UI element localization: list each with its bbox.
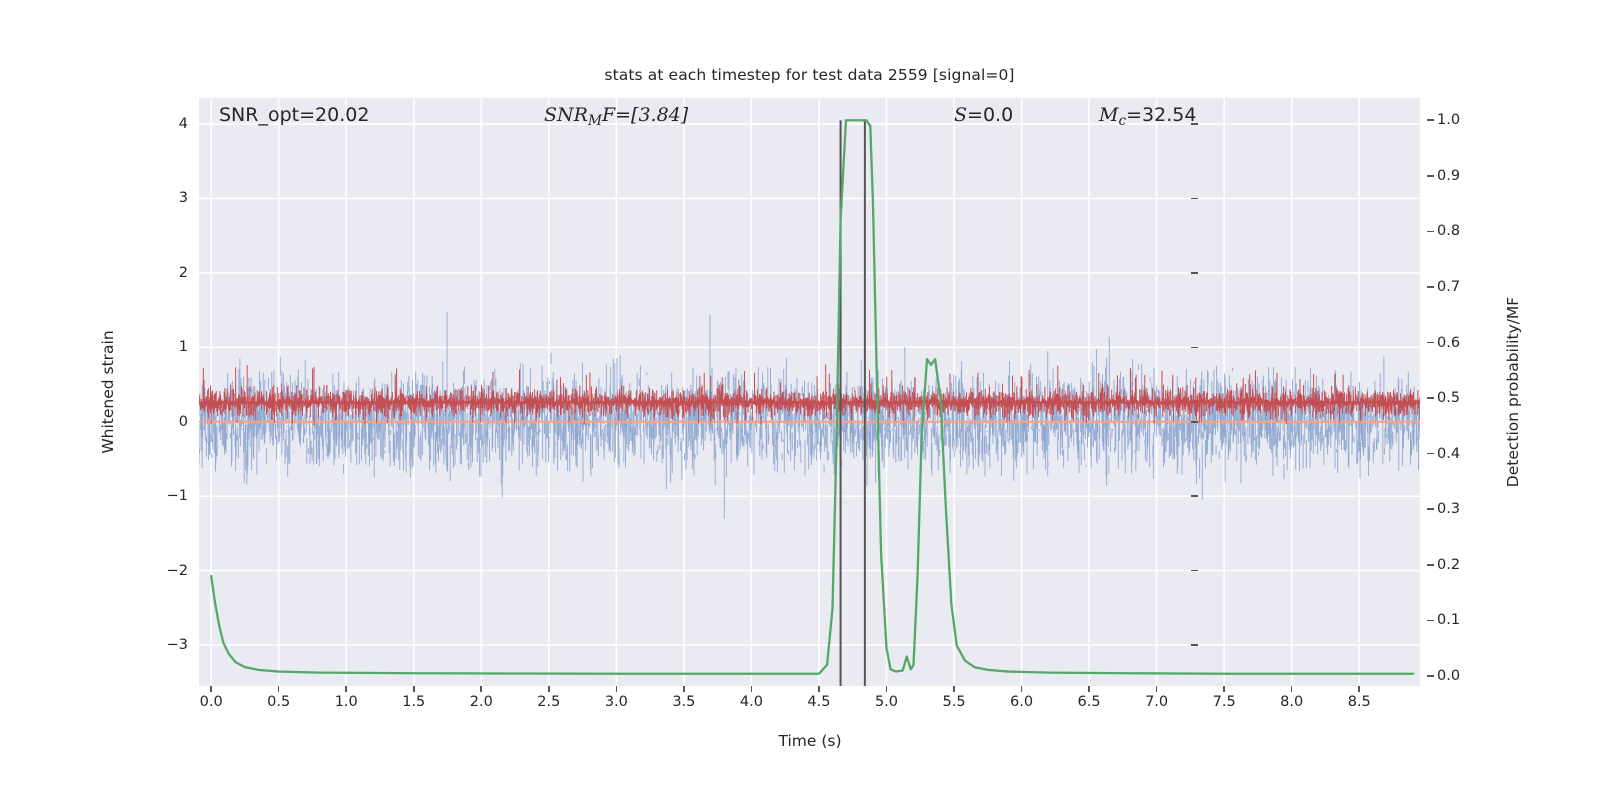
annotation-snr-opt: SNR_opt=20.02 bbox=[219, 104, 369, 126]
y-axis-label-right: Detection probability/MF bbox=[1504, 297, 1522, 487]
y-tick-label-left: 4 bbox=[179, 116, 188, 132]
x-tick-label: 8.5 bbox=[1348, 694, 1371, 710]
x-tick-label: 4.0 bbox=[740, 694, 763, 710]
y-axis-label-left: Whitened strain bbox=[99, 330, 117, 453]
y-tick-mark-right bbox=[1427, 231, 1434, 233]
y-tick-label-right: 1.0 bbox=[1437, 112, 1460, 128]
x-tick-label: 0.5 bbox=[267, 694, 290, 710]
y-tick-label-left: −2 bbox=[167, 563, 188, 579]
x-tick-label: 4.5 bbox=[807, 694, 830, 710]
annotation-s-value: =0.0 bbox=[967, 104, 1013, 126]
annotation-snr-mf-suffix: F=[3.84] bbox=[602, 104, 688, 126]
x-tick-mark bbox=[345, 686, 347, 692]
x-tick-label: 8.0 bbox=[1280, 694, 1303, 710]
x-tick-label: 5.5 bbox=[942, 694, 965, 710]
annotation-mc-subscript: c bbox=[1118, 113, 1126, 129]
y-tick-label-right: 0.9 bbox=[1437, 168, 1460, 184]
x-tick-mark bbox=[886, 686, 888, 692]
annotation-mc-value: =32.54 bbox=[1126, 104, 1196, 126]
x-tick-label: 1.5 bbox=[402, 694, 425, 710]
x-axis-label: Time (s) bbox=[778, 732, 841, 750]
x-tick-mark bbox=[751, 686, 753, 692]
x-tick-label: 2.5 bbox=[537, 694, 560, 710]
plot-area: SNR_opt=20.02 SNRMF=[3.84] S=0.0 Mc=32.5… bbox=[199, 98, 1420, 686]
annotation-snr-mf-prefix: SNR bbox=[544, 104, 588, 126]
y-tick-label-left: 0 bbox=[179, 414, 188, 430]
x-tick-mark bbox=[683, 686, 685, 692]
x-tick-mark bbox=[953, 686, 955, 692]
x-tick-mark bbox=[818, 686, 820, 692]
y-tick-label-right: 0.0 bbox=[1437, 668, 1460, 684]
y-tick-mark-left bbox=[1191, 495, 1198, 497]
x-tick-label: 6.5 bbox=[1078, 694, 1101, 710]
x-tick-label: 7.5 bbox=[1213, 694, 1236, 710]
y-tick-label-left: −3 bbox=[167, 637, 188, 653]
y-tick-mark-left bbox=[1191, 644, 1198, 646]
y-tick-label-right: 0.8 bbox=[1437, 223, 1460, 239]
x-tick-mark bbox=[616, 686, 618, 692]
page-title: stats at each timestep for test data 255… bbox=[199, 66, 1420, 84]
x-tick-label: 7.0 bbox=[1145, 694, 1168, 710]
y-tick-mark-left bbox=[1191, 570, 1198, 572]
x-tick-mark bbox=[413, 686, 415, 692]
y-tick-mark-left bbox=[1191, 198, 1198, 200]
x-tick-mark bbox=[1021, 686, 1023, 692]
annotation-snr-mf-subscript: M bbox=[588, 113, 602, 129]
y-tick-label-right: 0.2 bbox=[1437, 557, 1460, 573]
y-tick-mark-right bbox=[1427, 453, 1434, 455]
annotation-s-symbol: S bbox=[954, 104, 967, 126]
x-tick-mark bbox=[480, 686, 482, 692]
y-tick-label-right: 0.1 bbox=[1437, 612, 1460, 628]
y-tick-label-right: 0.4 bbox=[1437, 446, 1460, 462]
x-tick-mark bbox=[1156, 686, 1158, 692]
y-tick-mark-right bbox=[1427, 564, 1434, 566]
y-tick-mark-right bbox=[1427, 675, 1434, 677]
x-tick-mark bbox=[1358, 686, 1360, 692]
y-tick-label-right: 0.7 bbox=[1437, 279, 1460, 295]
x-tick-label: 3.5 bbox=[672, 694, 695, 710]
x-tick-label: 1.0 bbox=[335, 694, 358, 710]
x-tick-label: 0.0 bbox=[200, 694, 223, 710]
y-tick-mark-right bbox=[1427, 175, 1434, 177]
y-tick-mark-right bbox=[1427, 620, 1434, 622]
y-tick-label-left: 2 bbox=[179, 265, 188, 281]
y-tick-label-left: −1 bbox=[167, 488, 188, 504]
annotation-s-stat: S=0.0 bbox=[954, 104, 1013, 126]
y-tick-mark-right bbox=[1427, 508, 1434, 510]
y-tick-label-right: 0.3 bbox=[1437, 501, 1460, 517]
x-tick-label: 2.0 bbox=[470, 694, 493, 710]
annotation-snr-mf: SNRMF=[3.84] bbox=[544, 104, 688, 129]
annotation-mc-symbol: M bbox=[1099, 104, 1118, 126]
y-tick-label-right: 0.6 bbox=[1437, 335, 1460, 351]
x-tick-mark bbox=[278, 686, 280, 692]
y-tick-label-left: 1 bbox=[179, 339, 188, 355]
x-tick-mark bbox=[548, 686, 550, 692]
y-tick-label-left: 3 bbox=[179, 190, 188, 206]
y-tick-mark-right bbox=[1427, 286, 1434, 288]
x-tick-mark bbox=[1291, 686, 1293, 692]
y-tick-mark-left bbox=[1191, 123, 1198, 125]
x-tick-mark bbox=[1223, 686, 1225, 692]
y-tick-label-right: 0.5 bbox=[1437, 390, 1460, 406]
y-tick-mark-left bbox=[1191, 421, 1198, 423]
y-tick-mark-right bbox=[1427, 342, 1434, 344]
x-tick-mark bbox=[1088, 686, 1090, 692]
y-tick-mark-left bbox=[1191, 272, 1198, 274]
x-tick-label: 3.0 bbox=[605, 694, 628, 710]
x-tick-mark bbox=[210, 686, 212, 692]
x-tick-label: 5.0 bbox=[875, 694, 898, 710]
annotation-chirp-mass: Mc=32.54 bbox=[1099, 104, 1196, 129]
y-tick-mark-left bbox=[1191, 347, 1198, 349]
y-tick-mark-right bbox=[1427, 119, 1434, 121]
annotation-layer: SNR_opt=20.02 SNRMF=[3.84] S=0.0 Mc=32.5… bbox=[199, 98, 1420, 686]
y-tick-mark-right bbox=[1427, 397, 1434, 399]
figure-canvas: stats at each timestep for test data 255… bbox=[0, 0, 1600, 800]
x-tick-label: 6.0 bbox=[1010, 694, 1033, 710]
